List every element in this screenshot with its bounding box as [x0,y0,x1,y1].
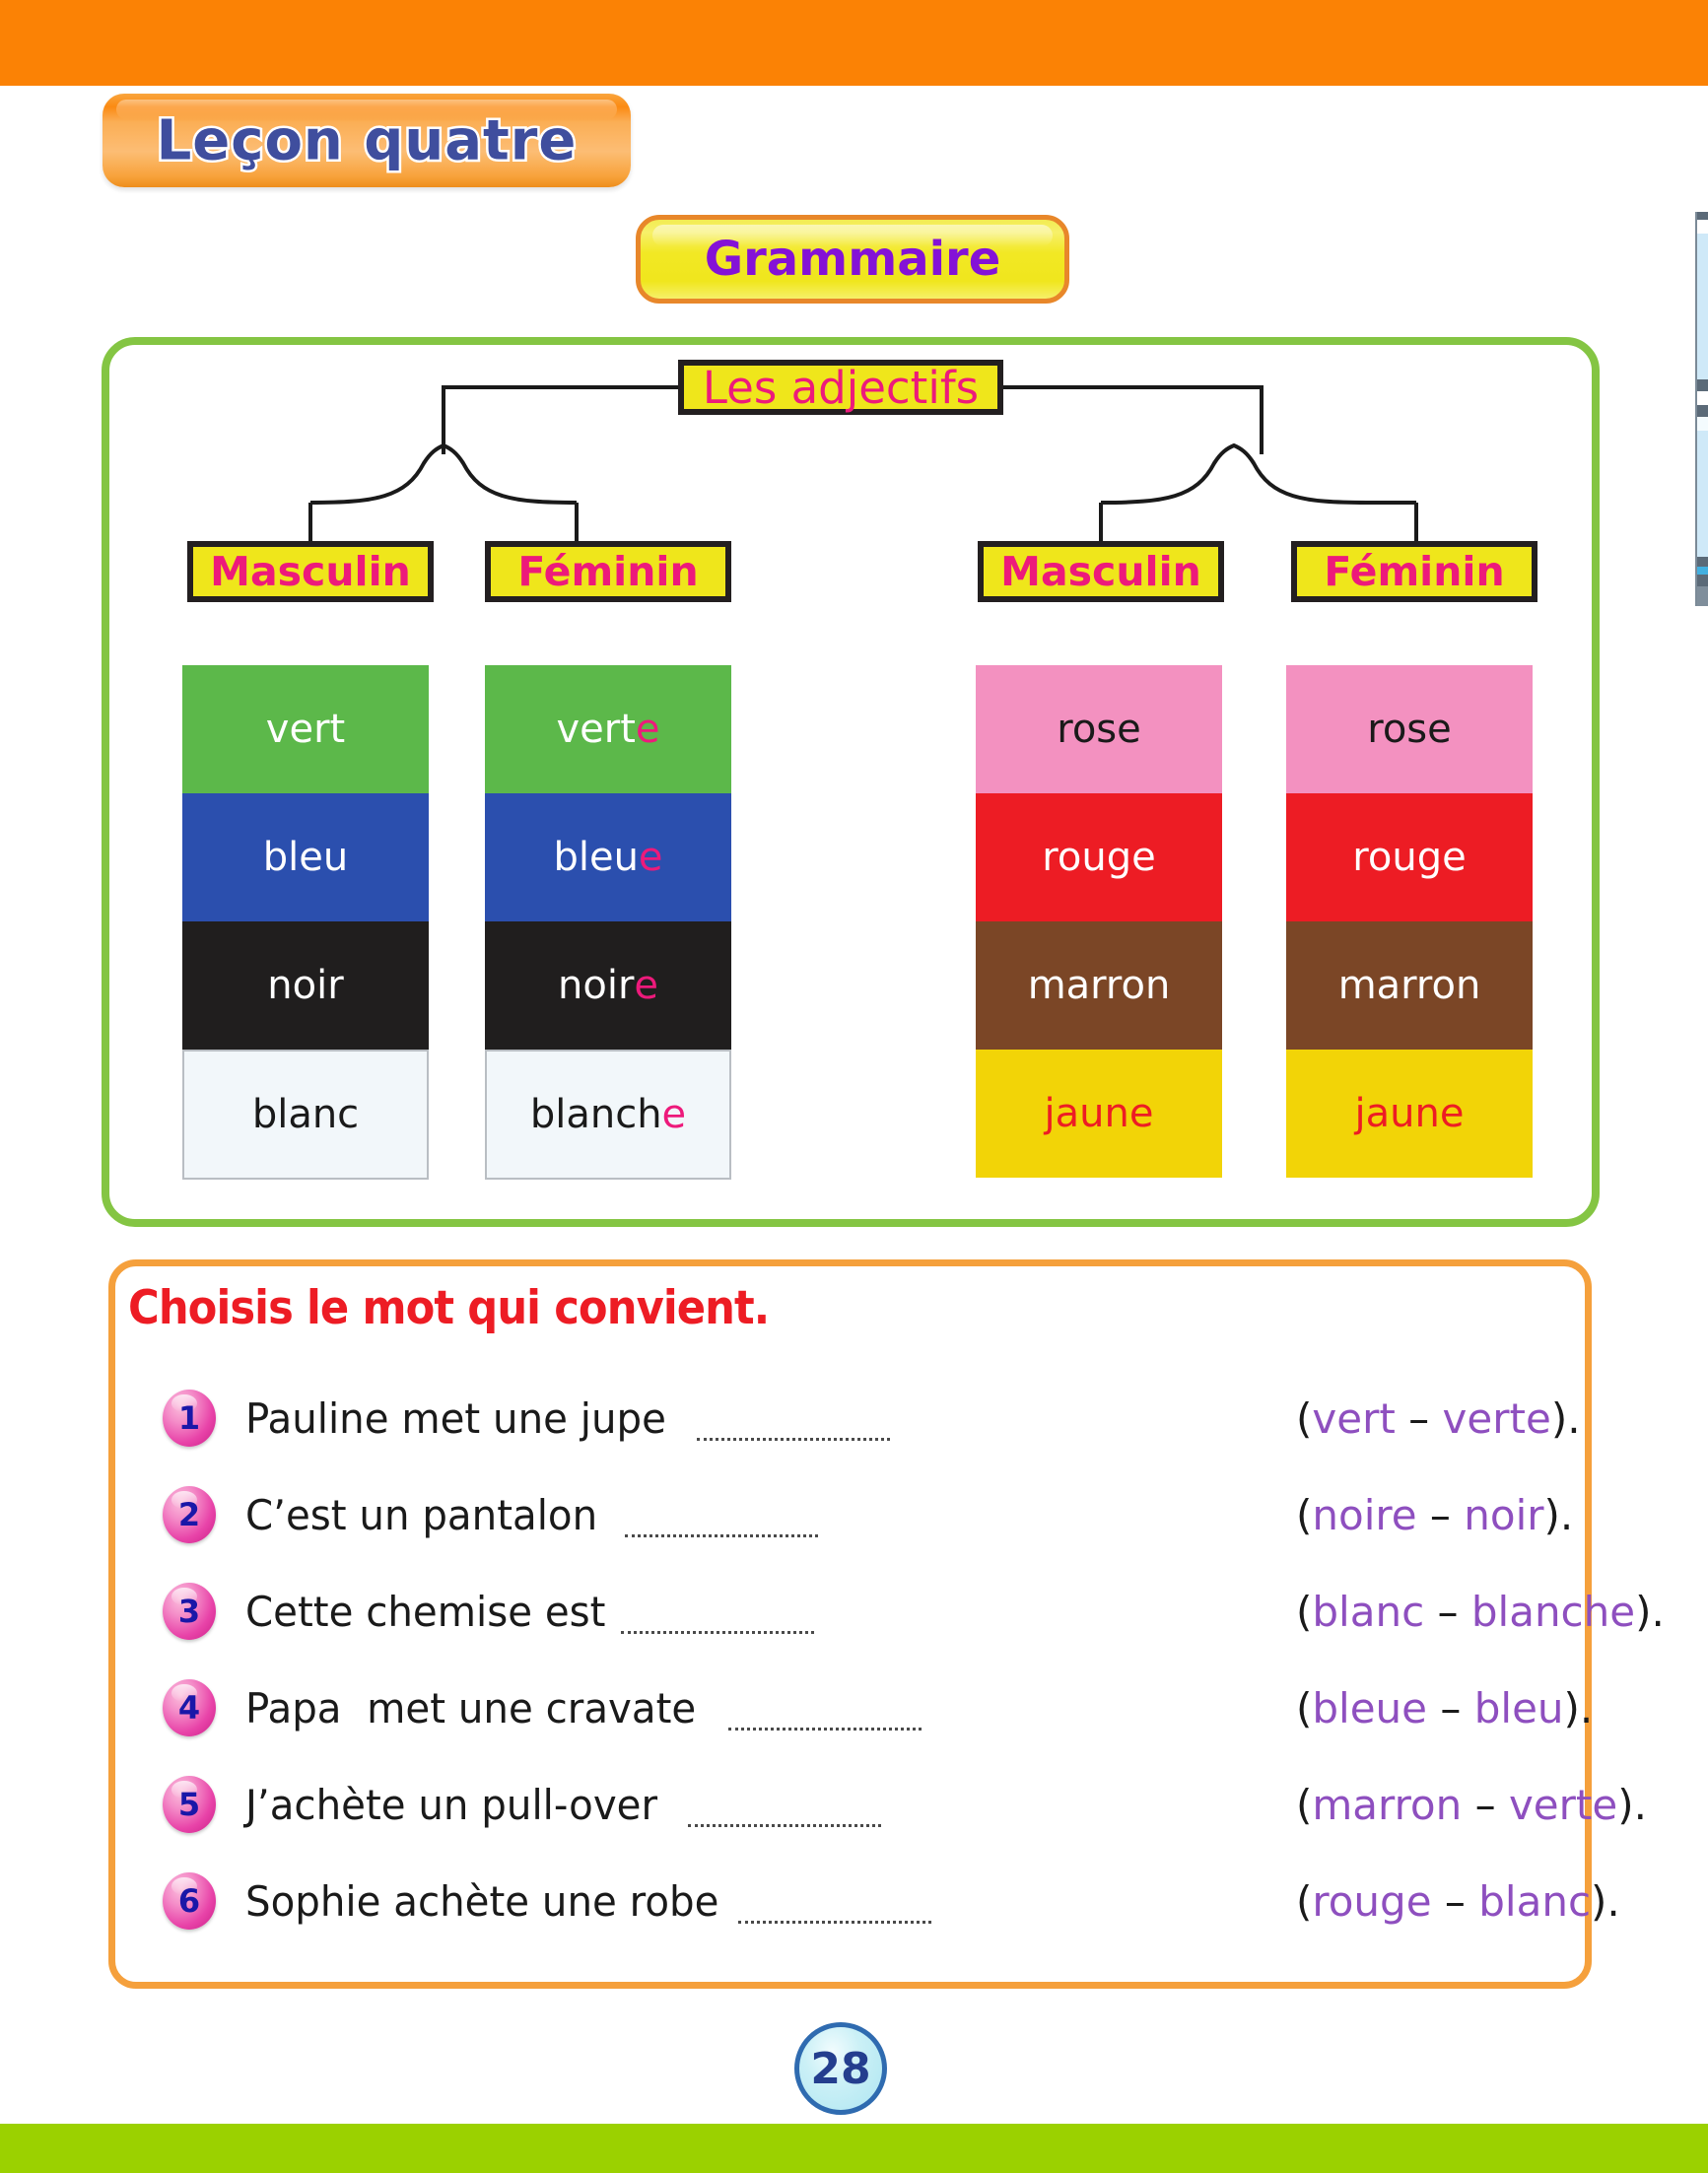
exercise-item: 4Papa met une cravate (bleue – bleu). [163,1660,1582,1756]
color-word-stem: blanch [530,1095,662,1134]
color-word: marron [1028,966,1171,1005]
category-label: Masculin [1000,552,1201,592]
color-word-cell: rose [1286,665,1533,793]
option-b[interactable]: blanc [1478,1877,1591,1926]
category-box-feminin-1: Féminin [485,541,731,602]
option-a[interactable]: rouge [1312,1877,1431,1926]
feminine-suffix: e [639,838,663,877]
exercise-item: 6Sophie achète une robe(rouge – blanc). [163,1853,1582,1949]
facing-page-sliver [1695,212,1708,606]
option-separator: – [1432,1877,1479,1926]
color-word-stem: jaune [1355,1094,1465,1133]
open-paren: ( [1296,1877,1312,1926]
item-number-badge: 4 [163,1679,216,1736]
open-paren: ( [1296,1781,1312,1829]
item-sentence: Papa met une cravate [245,1684,709,1732]
close-paren: ). [1617,1781,1647,1829]
open-paren: ( [1296,1684,1312,1732]
exercise-item: 3Cette chemise est(blanc – blanche). [163,1563,1582,1660]
item-options: (marron – verte). [1296,1781,1647,1829]
option-a[interactable]: blanc [1312,1588,1424,1636]
page-number-badge: 28 [794,2022,887,2115]
item-sentence: J’achète un pull-over [245,1781,670,1829]
exercise-question-list: 1Pauline met une jupe (vert – verte).2C’… [163,1370,1582,1949]
color-word: jaune [1045,1094,1154,1133]
option-a[interactable]: bleue [1312,1684,1427,1732]
item-number-badge: 5 [163,1776,216,1833]
worksheet-page: Leçon quatre Grammaire Les adjectifs [0,0,1708,2173]
item-number-badge: 3 [163,1583,216,1640]
close-paren: ). [1544,1491,1574,1539]
color-word-stem: rouge [1352,838,1466,877]
option-a[interactable]: noire [1312,1491,1416,1539]
color-word-cell: jaune [1286,1050,1533,1178]
color-word: blanc [252,1095,359,1134]
answer-blank[interactable] [728,1725,922,1731]
option-b[interactable]: verte [1509,1781,1617,1829]
color-word-cell: noir [182,921,429,1050]
color-word-cell: rouge [976,793,1222,921]
item-options: (noire – noir). [1296,1491,1573,1539]
close-paren: ). [1564,1684,1594,1732]
item-options: (vert – verte). [1296,1394,1581,1443]
category-box-masculin-2: Masculin [978,541,1224,602]
open-paren: ( [1296,1491,1312,1539]
item-number-badge: 6 [163,1872,216,1930]
color-word-cell: vert [182,665,429,793]
color-word: rose [1057,710,1141,749]
color-word-cell: bleu [182,793,429,921]
item-number: 4 [178,1689,200,1727]
exercise-item: 2C’est un pantalon (noire – noir). [163,1466,1582,1563]
lesson-title-plaque: Leçon quatre [102,94,631,187]
color-word-stem: noir [558,966,634,1005]
grammaire-badge: Grammaire [636,215,1069,304]
item-options: (rouge – blanc). [1296,1877,1620,1926]
option-b[interactable]: noir [1464,1491,1543,1539]
page-number: 28 [810,2044,870,2094]
top-decorative-bar [0,0,1708,86]
color-word-stem: bleu [553,838,638,877]
option-b[interactable]: bleu [1474,1684,1564,1732]
color-word-cell: noire [485,921,731,1050]
close-paren: ). [1551,1394,1581,1443]
open-paren: ( [1296,1588,1312,1636]
item-options: (bleue – bleu). [1296,1684,1593,1732]
answer-blank[interactable] [738,1918,931,1924]
feminine-suffix: e [636,710,660,749]
color-column-feminin-1: vertebleuenoireblanche [485,665,731,1180]
option-separator: – [1427,1684,1474,1732]
item-number: 2 [178,1496,200,1533]
color-word-cell: marron [976,921,1222,1050]
close-paren: ). [1635,1588,1665,1636]
item-sentence: Pauline met une jupe [245,1394,679,1443]
color-word-cell: verte [485,665,731,793]
item-options: (blanc – blanche). [1296,1588,1665,1636]
category-box-feminin-2: Féminin [1291,541,1537,602]
exercise-item: 1Pauline met une jupe (vert – verte). [163,1370,1582,1466]
option-a[interactable]: marron [1312,1781,1462,1829]
answer-blank[interactable] [621,1628,814,1634]
category-box-masculin-1: Masculin [187,541,434,602]
exercise-item: 5J’achète un pull-over (marron – verte). [163,1756,1582,1853]
item-number: 1 [178,1399,200,1437]
item-sentence: Sophie achète une robe [245,1877,718,1926]
answer-blank[interactable] [697,1435,890,1441]
diagram-root-label: Les adjectifs [703,366,979,410]
answer-blank[interactable] [625,1531,818,1537]
color-word: rouge [1042,838,1155,877]
option-b[interactable]: blanche [1471,1588,1635,1636]
color-column-feminin-2: roserougemarronjaune [1286,665,1533,1178]
color-word-stem: rose [1367,710,1452,749]
color-word: bleu [263,838,348,877]
option-separator: – [1417,1491,1465,1539]
feminine-suffix: e [634,966,658,1005]
color-word-cell: rose [976,665,1222,793]
item-number: 6 [178,1882,200,1920]
color-word-cell: blanche [485,1050,731,1180]
exercise-heading: Choisis le mot qui convient. [128,1281,769,1335]
item-number-badge: 1 [163,1390,216,1447]
color-column-masculin-2: roserougemarronjaune [976,665,1222,1178]
item-sentence: C’est un pantalon [245,1491,610,1539]
color-word-cell: bleue [485,793,731,921]
grammaire-label: Grammaire [641,232,1064,287]
color-column-masculin-1: vertbleunoirblanc [182,665,429,1180]
option-separator: – [1424,1588,1471,1636]
item-sentence: Cette chemise est [245,1588,605,1636]
option-a[interactable]: vert [1312,1394,1395,1443]
diagram-root-box: Les adjectifs [678,360,1003,415]
option-separator: – [1396,1394,1443,1443]
color-word-cell: blanc [182,1050,429,1180]
category-label: Féminin [1324,552,1504,592]
lesson-title: Leçon quatre [102,108,631,172]
color-word-cell: rouge [1286,793,1533,921]
bottom-decorative-bar [0,2124,1708,2173]
close-paren: ). [1591,1877,1620,1926]
answer-blank[interactable] [688,1821,881,1827]
feminine-suffix: e [662,1095,687,1134]
category-label: Féminin [517,552,698,592]
option-b[interactable]: verte [1443,1394,1551,1443]
option-separator: – [1462,1781,1509,1829]
color-word-stem: marron [1338,966,1481,1005]
color-word-cell: marron [1286,921,1533,1050]
color-word-stem: vert [556,710,635,749]
item-number: 3 [178,1593,200,1630]
category-label: Masculin [210,552,411,592]
color-word: noir [267,966,343,1005]
color-word-cell: jaune [976,1050,1222,1178]
item-number-badge: 2 [163,1486,216,1543]
color-word: vert [266,710,345,749]
item-number: 5 [178,1786,200,1823]
open-paren: ( [1296,1394,1312,1443]
